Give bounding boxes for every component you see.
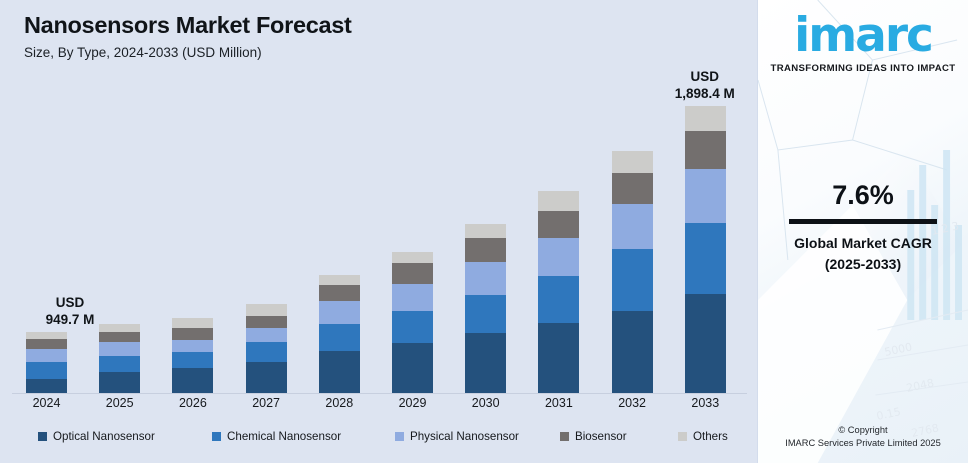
cagr-block: 7.6% Global Market CAGR (2025-2033) (758, 178, 968, 275)
cagr-value: 7.6% (758, 178, 968, 212)
bar-segment-optical-nanosensor[interactable] (538, 323, 579, 393)
bar-segment-others[interactable] (26, 332, 67, 339)
bar-segment-biosensor[interactable] (612, 173, 653, 204)
chart-legend: Optical NanosensorChemical NanosensorPhy… (0, 430, 757, 456)
bar-segment-biosensor[interactable] (685, 131, 726, 169)
legend-label: Biosensor (575, 430, 627, 443)
bar-group-2028 (311, 60, 368, 393)
bar-segment-chemical-nanosensor[interactable] (172, 352, 213, 368)
bar-group-2027 (238, 60, 295, 393)
x-tick-label-2024: 2024 (18, 396, 75, 410)
bar-group-2025 (91, 60, 148, 393)
bar-segment-biosensor[interactable] (246, 316, 287, 328)
stacked-bar-2026[interactable] (172, 318, 213, 393)
bar-segment-optical-nanosensor[interactable] (172, 368, 213, 393)
imarc-wordmark-icon: imarc (794, 10, 932, 62)
bar-segment-biosensor[interactable] (99, 332, 140, 342)
bar-segment-physical-nanosensor[interactable] (319, 301, 360, 324)
bar-segment-physical-nanosensor[interactable] (246, 328, 287, 342)
x-tick-label-2029: 2029 (384, 396, 441, 410)
x-tick-label-2025: 2025 (91, 396, 148, 410)
stacked-bar-2029[interactable] (392, 252, 433, 393)
legend-item-chemical-nanosensor[interactable]: Chemical Nanosensor (212, 430, 341, 443)
plot-area: USD949.7 MUSD1,898.4 M (0, 60, 757, 393)
bar-segment-optical-nanosensor[interactable] (246, 362, 287, 393)
bar-segment-optical-nanosensor[interactable] (465, 333, 506, 393)
bar-group-2033: USD1,898.4 M (677, 60, 734, 393)
legend-item-others[interactable]: Others (678, 430, 728, 443)
imarc-tagline: TRANSFORMING IDEAS INTO IMPACT (758, 63, 968, 74)
bar-group-2030 (457, 60, 514, 393)
bar-segment-physical-nanosensor[interactable] (26, 349, 67, 362)
legend-item-physical-nanosensor[interactable]: Physical Nanosensor (395, 430, 519, 443)
bar-segment-physical-nanosensor[interactable] (172, 340, 213, 352)
legend-item-biosensor[interactable]: Biosensor (560, 430, 627, 443)
x-tick-label-2032: 2032 (604, 396, 661, 410)
cagr-period: (2025-2033) (758, 254, 968, 275)
bar-segment-optical-nanosensor[interactable] (612, 311, 653, 393)
legend-swatch-icon (38, 432, 47, 441)
bar-group-2029 (384, 60, 441, 393)
bar-segment-optical-nanosensor[interactable] (26, 379, 67, 393)
bar-segment-others[interactable] (685, 106, 726, 131)
bar-segment-chemical-nanosensor[interactable] (99, 356, 140, 372)
bar-segment-chemical-nanosensor[interactable] (538, 276, 579, 323)
bar-segment-others[interactable] (246, 304, 287, 316)
x-axis-line (12, 393, 747, 394)
stacked-bar-2031[interactable] (538, 191, 579, 393)
chart-header: Nanosensors Market Forecast Size, By Typ… (24, 10, 352, 64)
stacked-bar-2024[interactable] (26, 332, 67, 393)
bar-segment-biosensor[interactable] (172, 328, 213, 340)
bar-segment-others[interactable] (392, 252, 433, 263)
x-tick-label-2026: 2026 (164, 396, 221, 410)
bar-segment-biosensor[interactable] (465, 238, 506, 262)
legend-label: Physical Nanosensor (410, 430, 519, 443)
bar-group-2026 (164, 60, 221, 393)
x-axis-labels: 2024202520262027202820292030203120322033 (0, 396, 757, 420)
bar-segment-biosensor[interactable] (26, 339, 67, 349)
bar-segment-optical-nanosensor[interactable] (392, 343, 433, 393)
stacked-bar-2025[interactable] (99, 324, 140, 393)
svg-text:2048: 2048 (905, 376, 935, 395)
bar-segment-biosensor[interactable] (538, 211, 579, 238)
stacked-bar-2028[interactable] (319, 275, 360, 393)
stacked-bar-2033[interactable] (685, 106, 726, 393)
bar-group-2024: USD949.7 M (18, 60, 75, 393)
copyright-line-1: © Copyright (758, 424, 968, 437)
bar-segment-chemical-nanosensor[interactable] (246, 342, 287, 362)
bar-segment-physical-nanosensor[interactable] (99, 342, 140, 356)
brand-panel: 5000 2048 0.15 2768 1 2 3 imarc TRANSFOR… (757, 0, 968, 463)
x-tick-label-2031: 2031 (530, 396, 587, 410)
svg-text:5000: 5000 (883, 340, 913, 359)
imarc-logo: imarc TRANSFORMING IDEAS INTO IMPACT (758, 10, 968, 74)
legend-swatch-icon (212, 432, 221, 441)
bar-segment-others[interactable] (538, 191, 579, 211)
bar-segment-physical-nanosensor[interactable] (392, 284, 433, 311)
bar-segment-physical-nanosensor[interactable] (465, 262, 506, 295)
legend-label: Others (693, 430, 728, 443)
legend-swatch-icon (395, 432, 404, 441)
chart-panel: Nanosensors Market Forecast Size, By Typ… (0, 0, 757, 463)
cagr-label: Global Market CAGR (758, 233, 968, 254)
legend-label: Chemical Nanosensor (227, 430, 341, 443)
bar-segment-optical-nanosensor[interactable] (99, 372, 140, 393)
x-tick-label-2028: 2028 (311, 396, 368, 410)
x-tick-label-2030: 2030 (457, 396, 514, 410)
bar-segment-physical-nanosensor[interactable] (685, 169, 726, 223)
bar-segment-chemical-nanosensor[interactable] (685, 223, 726, 294)
legend-swatch-icon (560, 432, 569, 441)
bar-segment-biosensor[interactable] (319, 285, 360, 301)
bar-segment-chemical-nanosensor[interactable] (465, 295, 506, 333)
page-title: Nanosensors Market Forecast (24, 10, 352, 40)
bar-segment-optical-nanosensor[interactable] (319, 351, 360, 393)
bar-segment-chemical-nanosensor[interactable] (26, 362, 67, 379)
x-tick-label-2027: 2027 (238, 396, 295, 410)
copyright-line-2: IMARC Services Private Limited 2025 (758, 437, 968, 450)
bar-segment-others[interactable] (99, 324, 140, 332)
stacked-bar-2032[interactable] (612, 151, 653, 393)
cagr-divider (789, 219, 937, 224)
chart-infographic: Nanosensors Market Forecast Size, By Typ… (0, 0, 968, 463)
bar-segment-others[interactable] (319, 275, 360, 285)
bar-segment-optical-nanosensor[interactable] (685, 294, 726, 393)
bar-group-2032 (604, 60, 661, 393)
legend-label: Optical Nanosensor (53, 430, 155, 443)
callout-value: 1,898.4 M (640, 85, 770, 102)
bar-segment-chemical-nanosensor[interactable] (319, 324, 360, 351)
total-callout-2033: USD1,898.4 M (640, 68, 770, 102)
stacked-bar-2027[interactable] (246, 304, 287, 393)
bar-segment-others[interactable] (612, 151, 653, 173)
callout-currency: USD (640, 68, 770, 85)
copyright-notice: © Copyright IMARC Services Private Limit… (758, 424, 968, 450)
legend-swatch-icon (678, 432, 687, 441)
bar-segment-physical-nanosensor[interactable] (538, 238, 579, 276)
stacked-bar-2030[interactable] (465, 224, 506, 393)
bar-segment-physical-nanosensor[interactable] (612, 204, 653, 249)
legend-item-optical-nanosensor[interactable]: Optical Nanosensor (38, 430, 155, 443)
svg-text:0.15: 0.15 (875, 405, 902, 423)
bar-segment-others[interactable] (465, 224, 506, 238)
x-tick-label-2033: 2033 (677, 396, 734, 410)
bar-segment-chemical-nanosensor[interactable] (392, 311, 433, 343)
bar-segment-biosensor[interactable] (392, 263, 433, 284)
bar-group-2031 (530, 60, 587, 393)
bar-segment-others[interactable] (172, 318, 213, 328)
bar-segment-chemical-nanosensor[interactable] (612, 249, 653, 311)
